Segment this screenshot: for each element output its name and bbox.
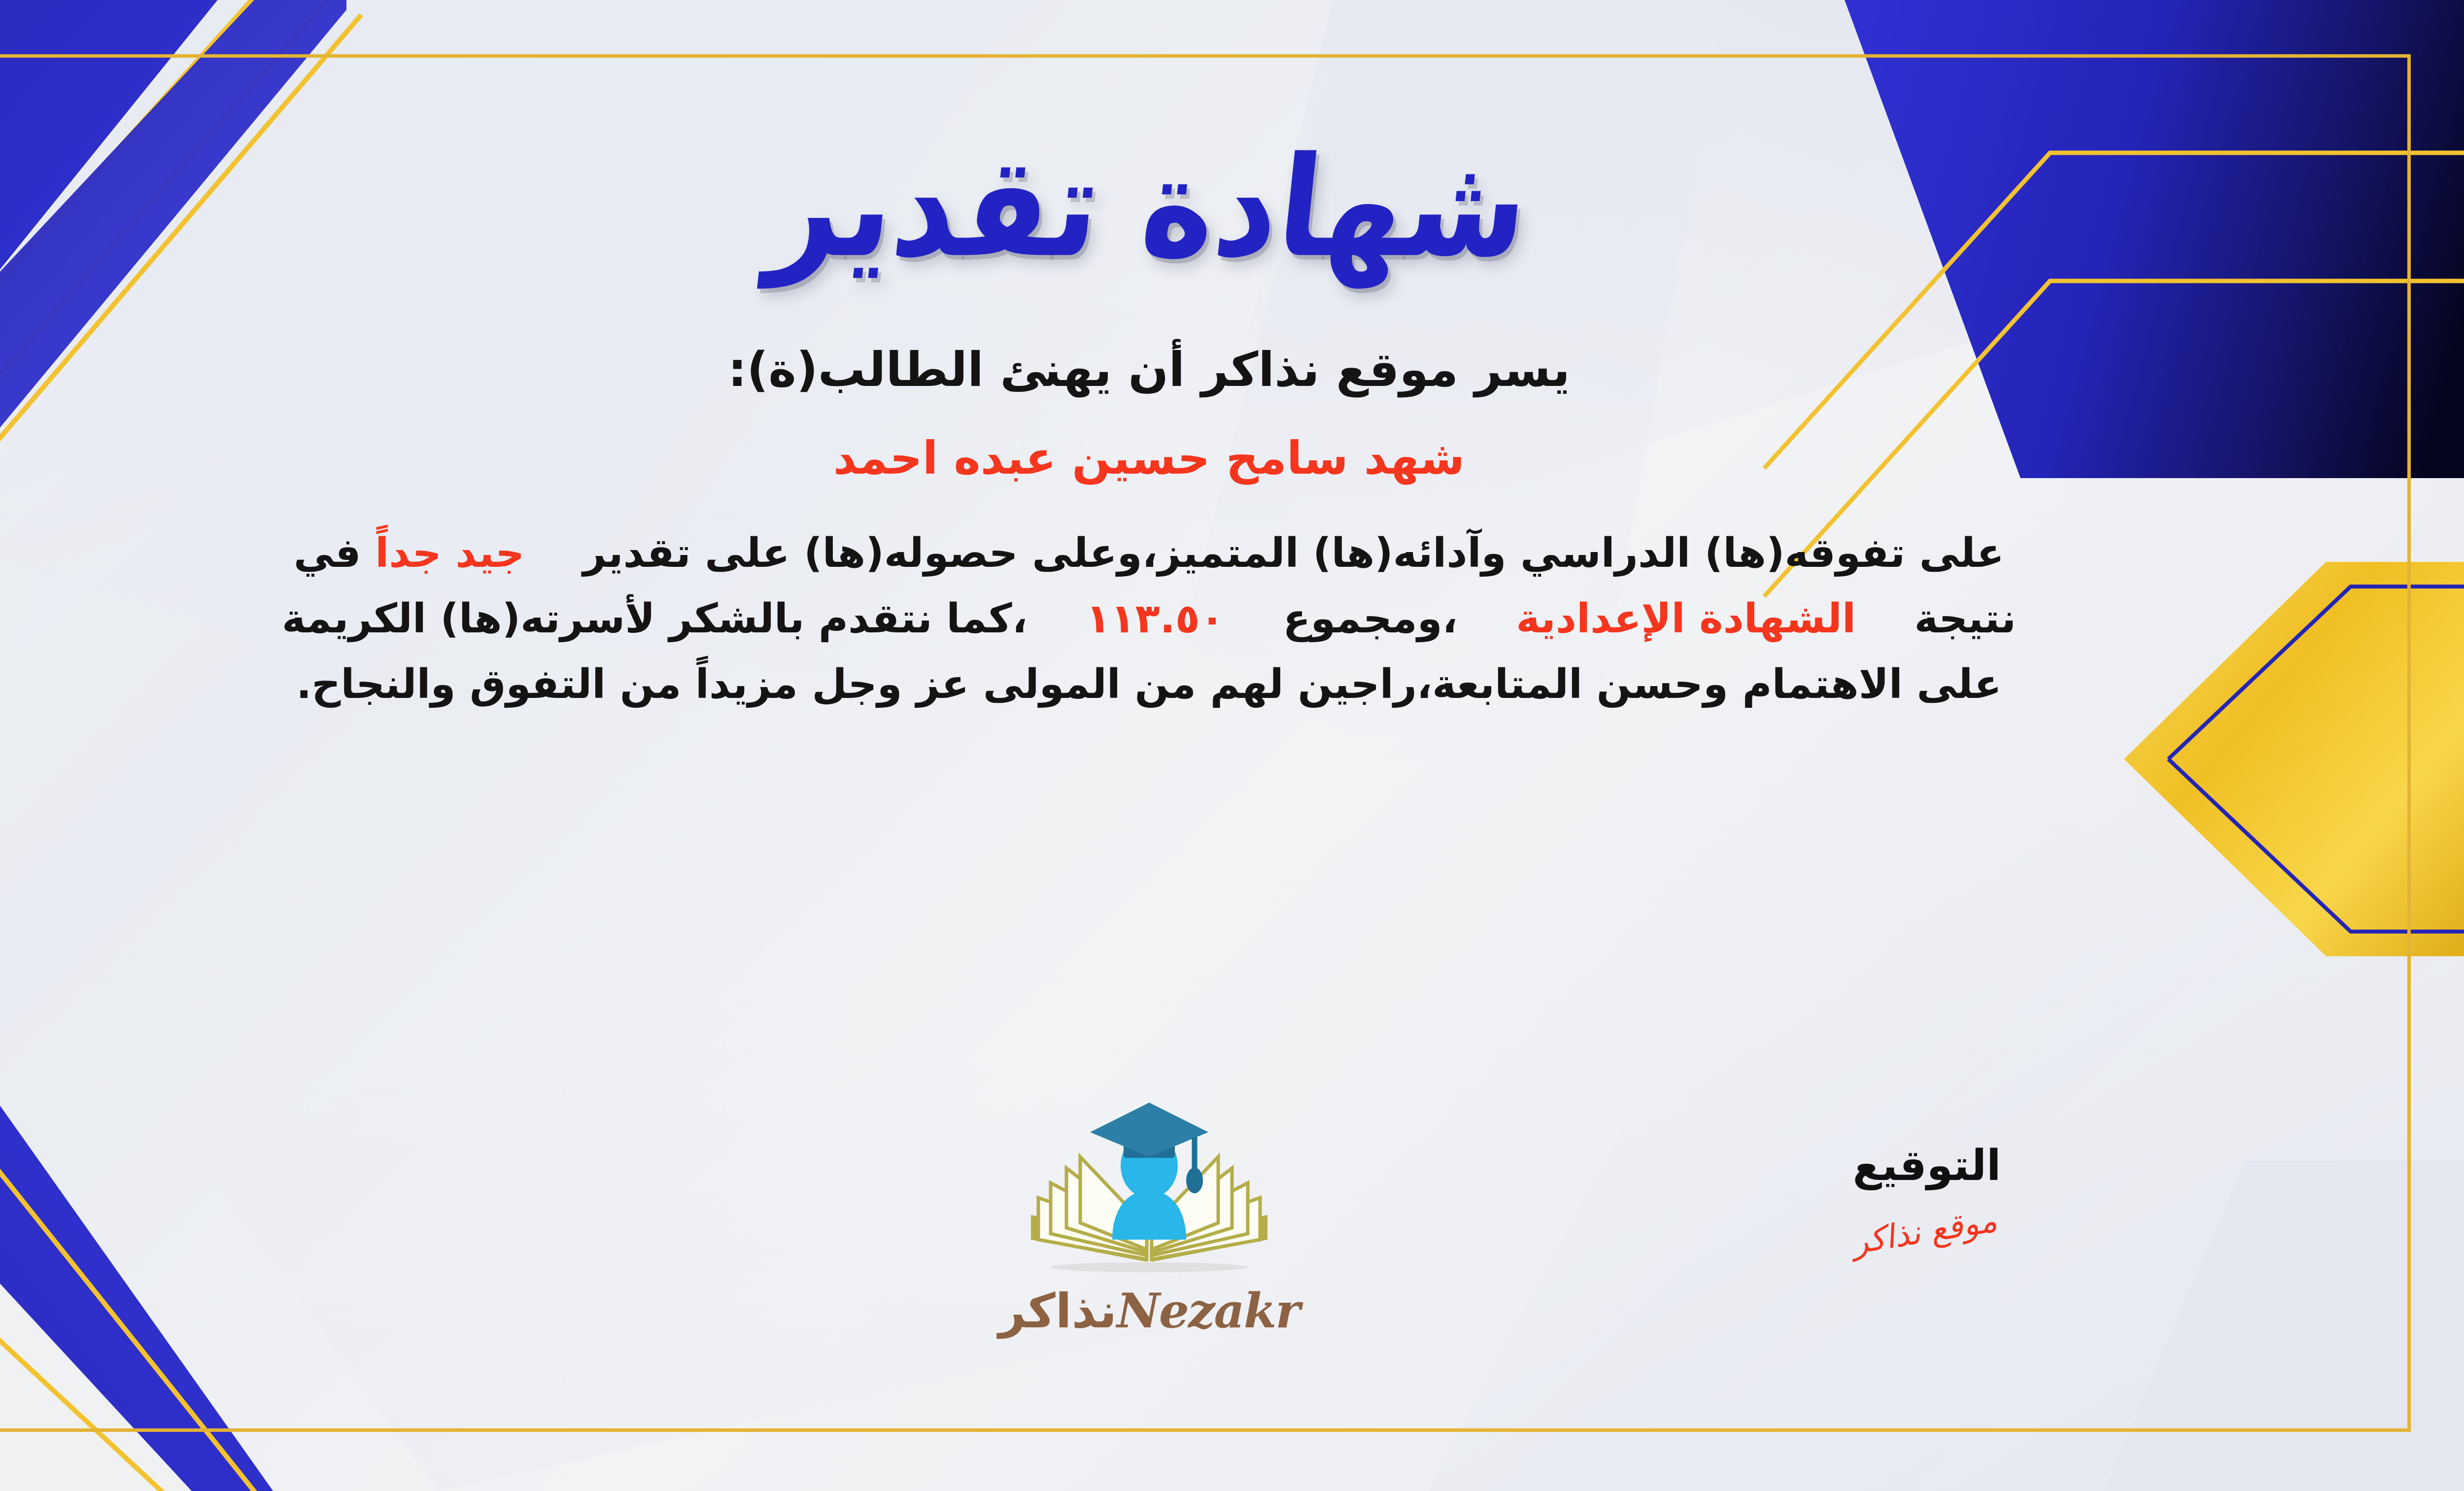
student-name: شهد سامح حسين عبده احمد	[262, 430, 2036, 486]
signature-area: التوقيع موقع نذاكر	[1730, 1141, 2124, 1250]
citation-part-1: على تفوقه(ها) الدراسي وآدائه(ها) المتميز…	[583, 530, 2004, 577]
certificate-body: يسر موقع نذاكر أن يهنئ الطالب(ة): شهد سا…	[262, 340, 2036, 717]
citation-part-3: ،ومجموع	[1283, 595, 1457, 642]
grade-value: جيد جداً	[375, 530, 524, 577]
certificate-page: شهادة تقدير يسر موقع نذاكر أن يهنئ الطال…	[0, 0, 2464, 1491]
intro-line: يسر موقع نذاكر أن يهنئ الطالب(ة):	[262, 340, 2036, 399]
certificate-title-text: شهادة تقدير	[762, 127, 1536, 287]
citation-paragraph: على تفوقه(ها) الدراسي وآدائه(ها) المتميز…	[262, 521, 2036, 717]
signature-label: التوقيع	[1730, 1141, 2124, 1190]
logo-wordmark: Nezakrنذاكر	[962, 1283, 1336, 1339]
certificate-footer: التوقيع موقع نذاكر	[0, 1082, 2400, 1402]
total-score: ١١٣.٥٠	[1086, 595, 1224, 642]
logo-arabic-name: نذاكر	[998, 1283, 1117, 1339]
certificate-content: شهادة تقدير يسر موقع نذاكر أن يهنئ الطال…	[0, 64, 2400, 1422]
logo-latin-name: Nezakr	[1117, 1283, 1300, 1339]
certificate-title: شهادة تقدير	[771, 118, 1527, 296]
exam-name: الشهادة الإعدادية	[1516, 595, 1856, 642]
site-logo: Nezakrنذاكر	[962, 1092, 1336, 1339]
signature-handwriting: موقع نذاكر	[1854, 1200, 2000, 1262]
graduate-open-book-icon	[1011, 1092, 1287, 1289]
